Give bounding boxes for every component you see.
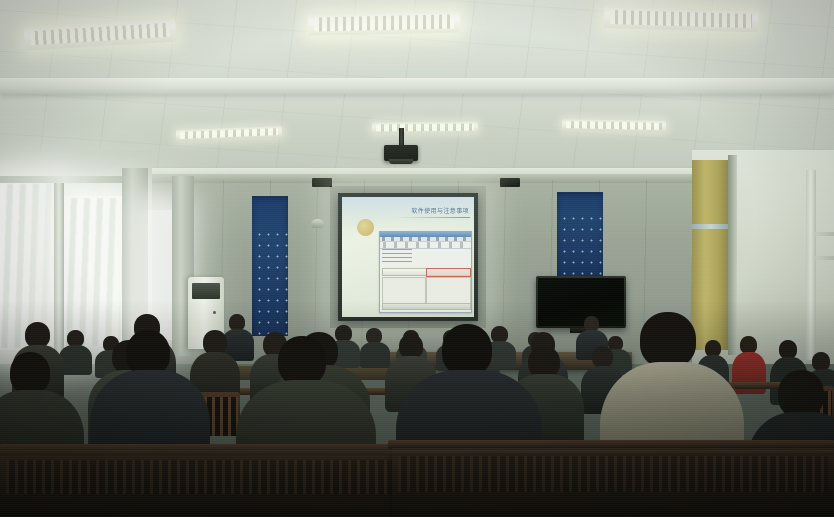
acoustic-panel-perforations (557, 211, 603, 280)
ceiling-light-front-center (372, 122, 478, 134)
ochre-panel-trim-strip (692, 224, 730, 229)
air-conditioner-indicator (213, 311, 216, 314)
flat-panel-display (536, 276, 626, 328)
projection-screen-surface: 软件使用与注意事项 (342, 197, 474, 317)
head (10, 352, 50, 394)
slide-title: 软件使用与注意事项 (411, 206, 469, 215)
projector-mount-rod (399, 128, 404, 146)
projector-lens (389, 159, 413, 164)
lamp-louver-grid (180, 128, 278, 138)
flat-panel-display-screen (538, 278, 624, 326)
ochre-wall-panel (692, 160, 730, 350)
bench-front-edge-highlight (0, 450, 834, 455)
slide-app-screenshot (379, 231, 472, 313)
right-wall-shelf-lower (812, 256, 834, 260)
wall-mounted-speaker-left (312, 178, 332, 187)
torso (360, 342, 390, 368)
lamp-louver-grid (314, 15, 454, 31)
lamp-louver-grid (30, 23, 170, 46)
head (592, 346, 613, 368)
right-wall-shelf-upper (812, 232, 834, 236)
acoustic-panel-right (557, 192, 603, 280)
wall-mounted-speaker-right (500, 178, 520, 187)
ceiling-beam-upper (0, 78, 834, 94)
curtain-left-inner (64, 198, 120, 346)
head (278, 336, 326, 386)
conference-room-photo: 软件使用与注意事项 (0, 0, 834, 517)
app-toolbar (380, 242, 471, 249)
projection-screen: 软件使用与注意事项 (338, 193, 478, 321)
bench-slats (398, 456, 828, 492)
acoustic-panel-left (252, 196, 288, 336)
window-head-rail (0, 176, 128, 183)
right-wall-jamb (728, 155, 737, 355)
wall-camera (311, 219, 324, 228)
head (640, 312, 696, 368)
bench-slats (6, 460, 398, 494)
window-mullion-vertical (54, 178, 64, 354)
ceiling-light-back-right (604, 6, 759, 32)
ceiling-light-front-right (562, 119, 666, 132)
acoustic-panel-perforations (252, 227, 288, 336)
app-status-bar (382, 303, 471, 310)
air-conditioner-vent (192, 283, 220, 299)
app-highlight-box (426, 268, 471, 277)
lamp-louver-grid (566, 121, 662, 129)
head (778, 370, 824, 418)
slide-circle-graphic (357, 219, 374, 236)
slide-title-underline (396, 217, 470, 218)
lamp-louver-grid (376, 124, 474, 131)
app-tree-list (382, 249, 412, 265)
lamp-louver-grid (610, 10, 752, 27)
ceiling-light-back-center (308, 10, 460, 35)
bench-front-right (392, 448, 834, 517)
bench-front-left (0, 452, 404, 517)
head (442, 324, 492, 376)
right-window-frame (806, 170, 816, 360)
